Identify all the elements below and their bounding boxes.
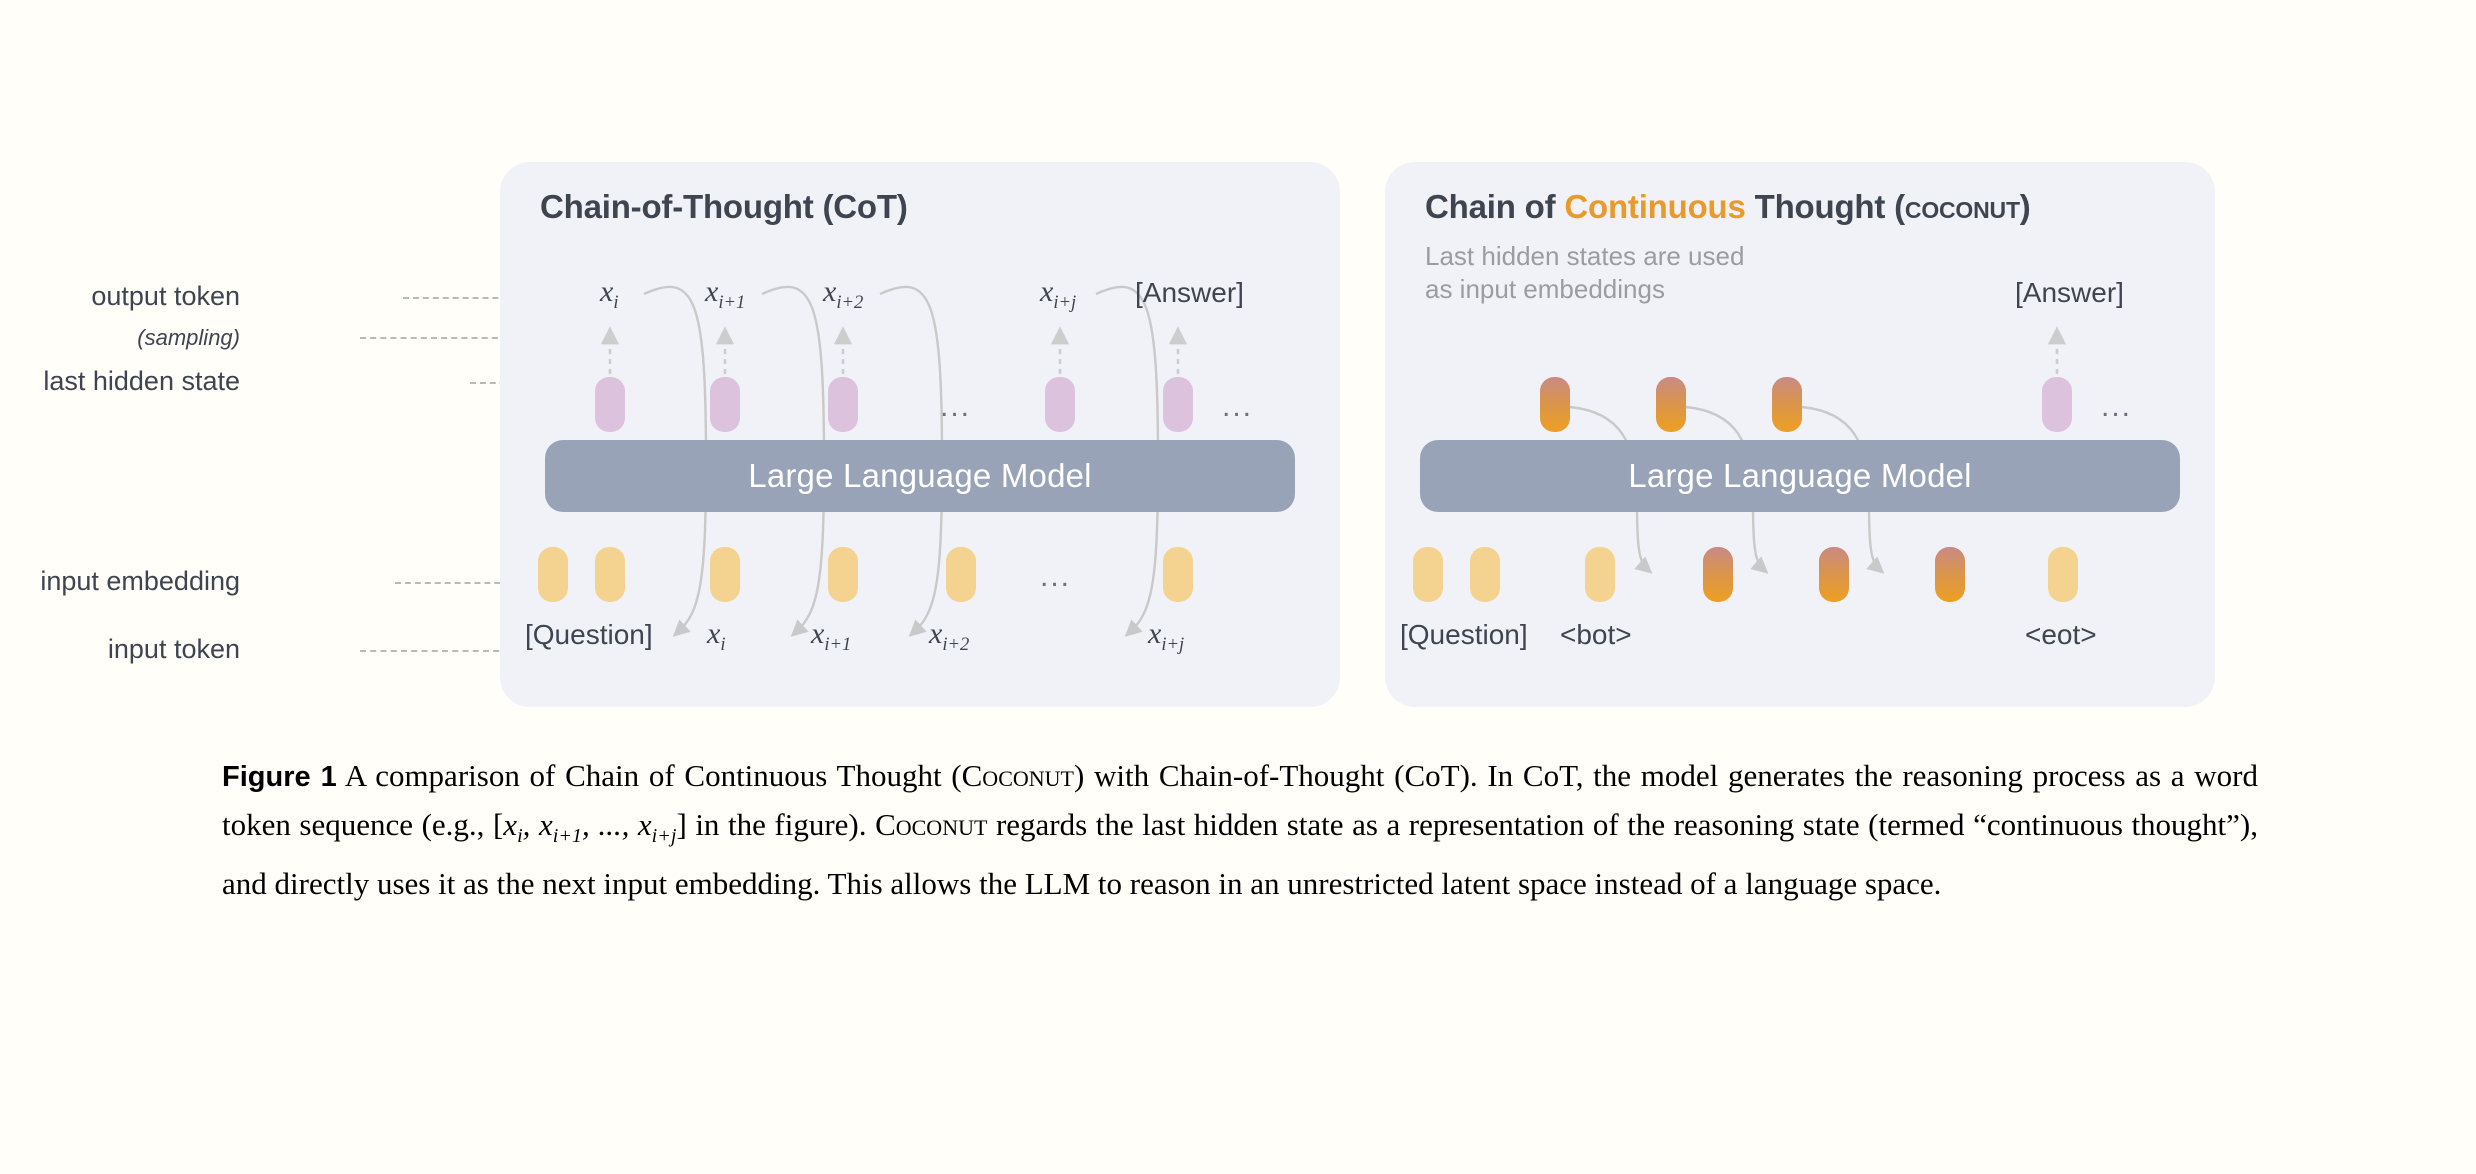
cot-hidden-state-0 — [595, 377, 625, 432]
coconut-input-embedding-q1 — [1470, 547, 1500, 602]
caption-text-3: ] in the figure). — [676, 807, 875, 842]
coconut-input-token-eot: <eot> — [2025, 619, 2097, 651]
coconut-title-accent: Continuous — [1564, 188, 1745, 225]
cot-llm-bar: Large Language Model — [545, 440, 1295, 512]
side-label-input-token: input token — [108, 634, 240, 665]
cot-input-embedding-1 — [828, 547, 858, 602]
cot-output-token-2: xi+2 — [823, 275, 863, 314]
cot-input-embedding-0 — [710, 547, 740, 602]
side-label-last-hidden-state: last hidden state — [43, 366, 240, 397]
coconut-continuous-thought-0 — [1540, 377, 1570, 432]
cot-output-token-1: xi+1 — [705, 275, 745, 314]
caption-math-1: xi — [503, 807, 522, 842]
cot-input-token-1: xi+1 — [811, 617, 851, 656]
caption-math-3: , ..., xi+j — [582, 807, 676, 842]
coconut-input-embedding-latent-1 — [1819, 547, 1849, 602]
cot-input-token-question: [Question] — [525, 619, 653, 651]
cot-input-token-0: xi — [707, 617, 726, 656]
coconut-continuous-thought-1 — [1656, 377, 1686, 432]
coconut-input-token-question: [Question] — [1400, 619, 1528, 651]
side-label-output-token: output token — [91, 281, 240, 312]
coconut-title-name: Coconut — [1905, 188, 2020, 225]
side-label-sampling: (sampling) — [137, 325, 240, 351]
caption-text-1: A comparison of Chain of Continuous Thou… — [337, 758, 962, 793]
coconut-title-part1: Chain of — [1425, 188, 1564, 225]
cot-output-token-3: xi+j — [1040, 275, 1076, 314]
coconut-answer-trailing-ellipsis: ... — [2101, 390, 2132, 424]
coconut-input-embedding-eot — [2048, 547, 2078, 602]
cot-panel-title: Chain-of-Thought (CoT) — [540, 188, 908, 226]
cot-hidden-state-2 — [828, 377, 858, 432]
coconut-input-embedding-latent-0 — [1703, 547, 1733, 602]
cot-input-embedding-2 — [946, 547, 976, 602]
cot-input-token-2: xi+2 — [929, 617, 969, 656]
cot-input-embedding-ellipsis: ... — [1040, 560, 1071, 594]
side-label-input-embedding: input embedding — [40, 566, 240, 597]
cot-output-token-0: xi — [600, 275, 619, 314]
caption-math-2: , xi+1 — [523, 807, 582, 842]
cot-output-token-answer: [Answer] — [1135, 277, 1244, 309]
caption-coconut-1: Coconut — [962, 758, 1074, 793]
cot-hidden-state-3 — [1045, 377, 1075, 432]
panel-chain-of-thought: Chain-of-Thought (CoT) xi xi+1 xi+2 xi+j — [500, 162, 1340, 707]
coconut-input-embedding-q0 — [1413, 547, 1443, 602]
cot-input-token-3: xi+j — [1148, 617, 1184, 656]
coconut-title-part3: ) — [2020, 188, 2031, 225]
caption-coconut-2: Coconut — [875, 807, 987, 842]
coconut-answer-label: [Answer] — [2015, 277, 2124, 309]
coconut-panel-subtitle: Last hidden states are used as input emb… — [1425, 240, 1744, 306]
cot-answer-trailing-ellipsis: ... — [1222, 390, 1253, 424]
figure-area: output token (sampling) last hidden stat… — [0, 0, 2476, 740]
cot-hidden-state-1 — [710, 377, 740, 432]
cot-hidden-state-answer — [1163, 377, 1193, 432]
coconut-input-token-bot: <bot> — [1560, 619, 1632, 651]
cot-input-embedding-q0 — [538, 547, 568, 602]
cot-input-embedding-q1 — [595, 547, 625, 602]
coconut-llm-bar: Large Language Model — [1420, 440, 2180, 512]
caption-figure-label: Figure 1 — [222, 761, 337, 793]
figure-caption: Figure 1 A comparison of Chain of Contin… — [222, 752, 2258, 907]
coconut-continuous-thought-2 — [1772, 377, 1802, 432]
cot-input-embedding-3 — [1163, 547, 1193, 602]
coconut-input-embedding-latent-2 — [1935, 547, 1965, 602]
coconut-panel-title: Chain of Continuous Thought (Coconut) — [1425, 188, 2031, 226]
coconut-answer-hidden-state — [2042, 377, 2072, 432]
cot-hidden-state-ellipsis: ... — [940, 390, 971, 424]
coconut-input-embedding-bot — [1585, 547, 1615, 602]
coconut-title-part2: Thought ( — [1746, 188, 1905, 225]
panel-coconut: Chain of Continuous Thought (Coconut) La… — [1385, 162, 2215, 707]
